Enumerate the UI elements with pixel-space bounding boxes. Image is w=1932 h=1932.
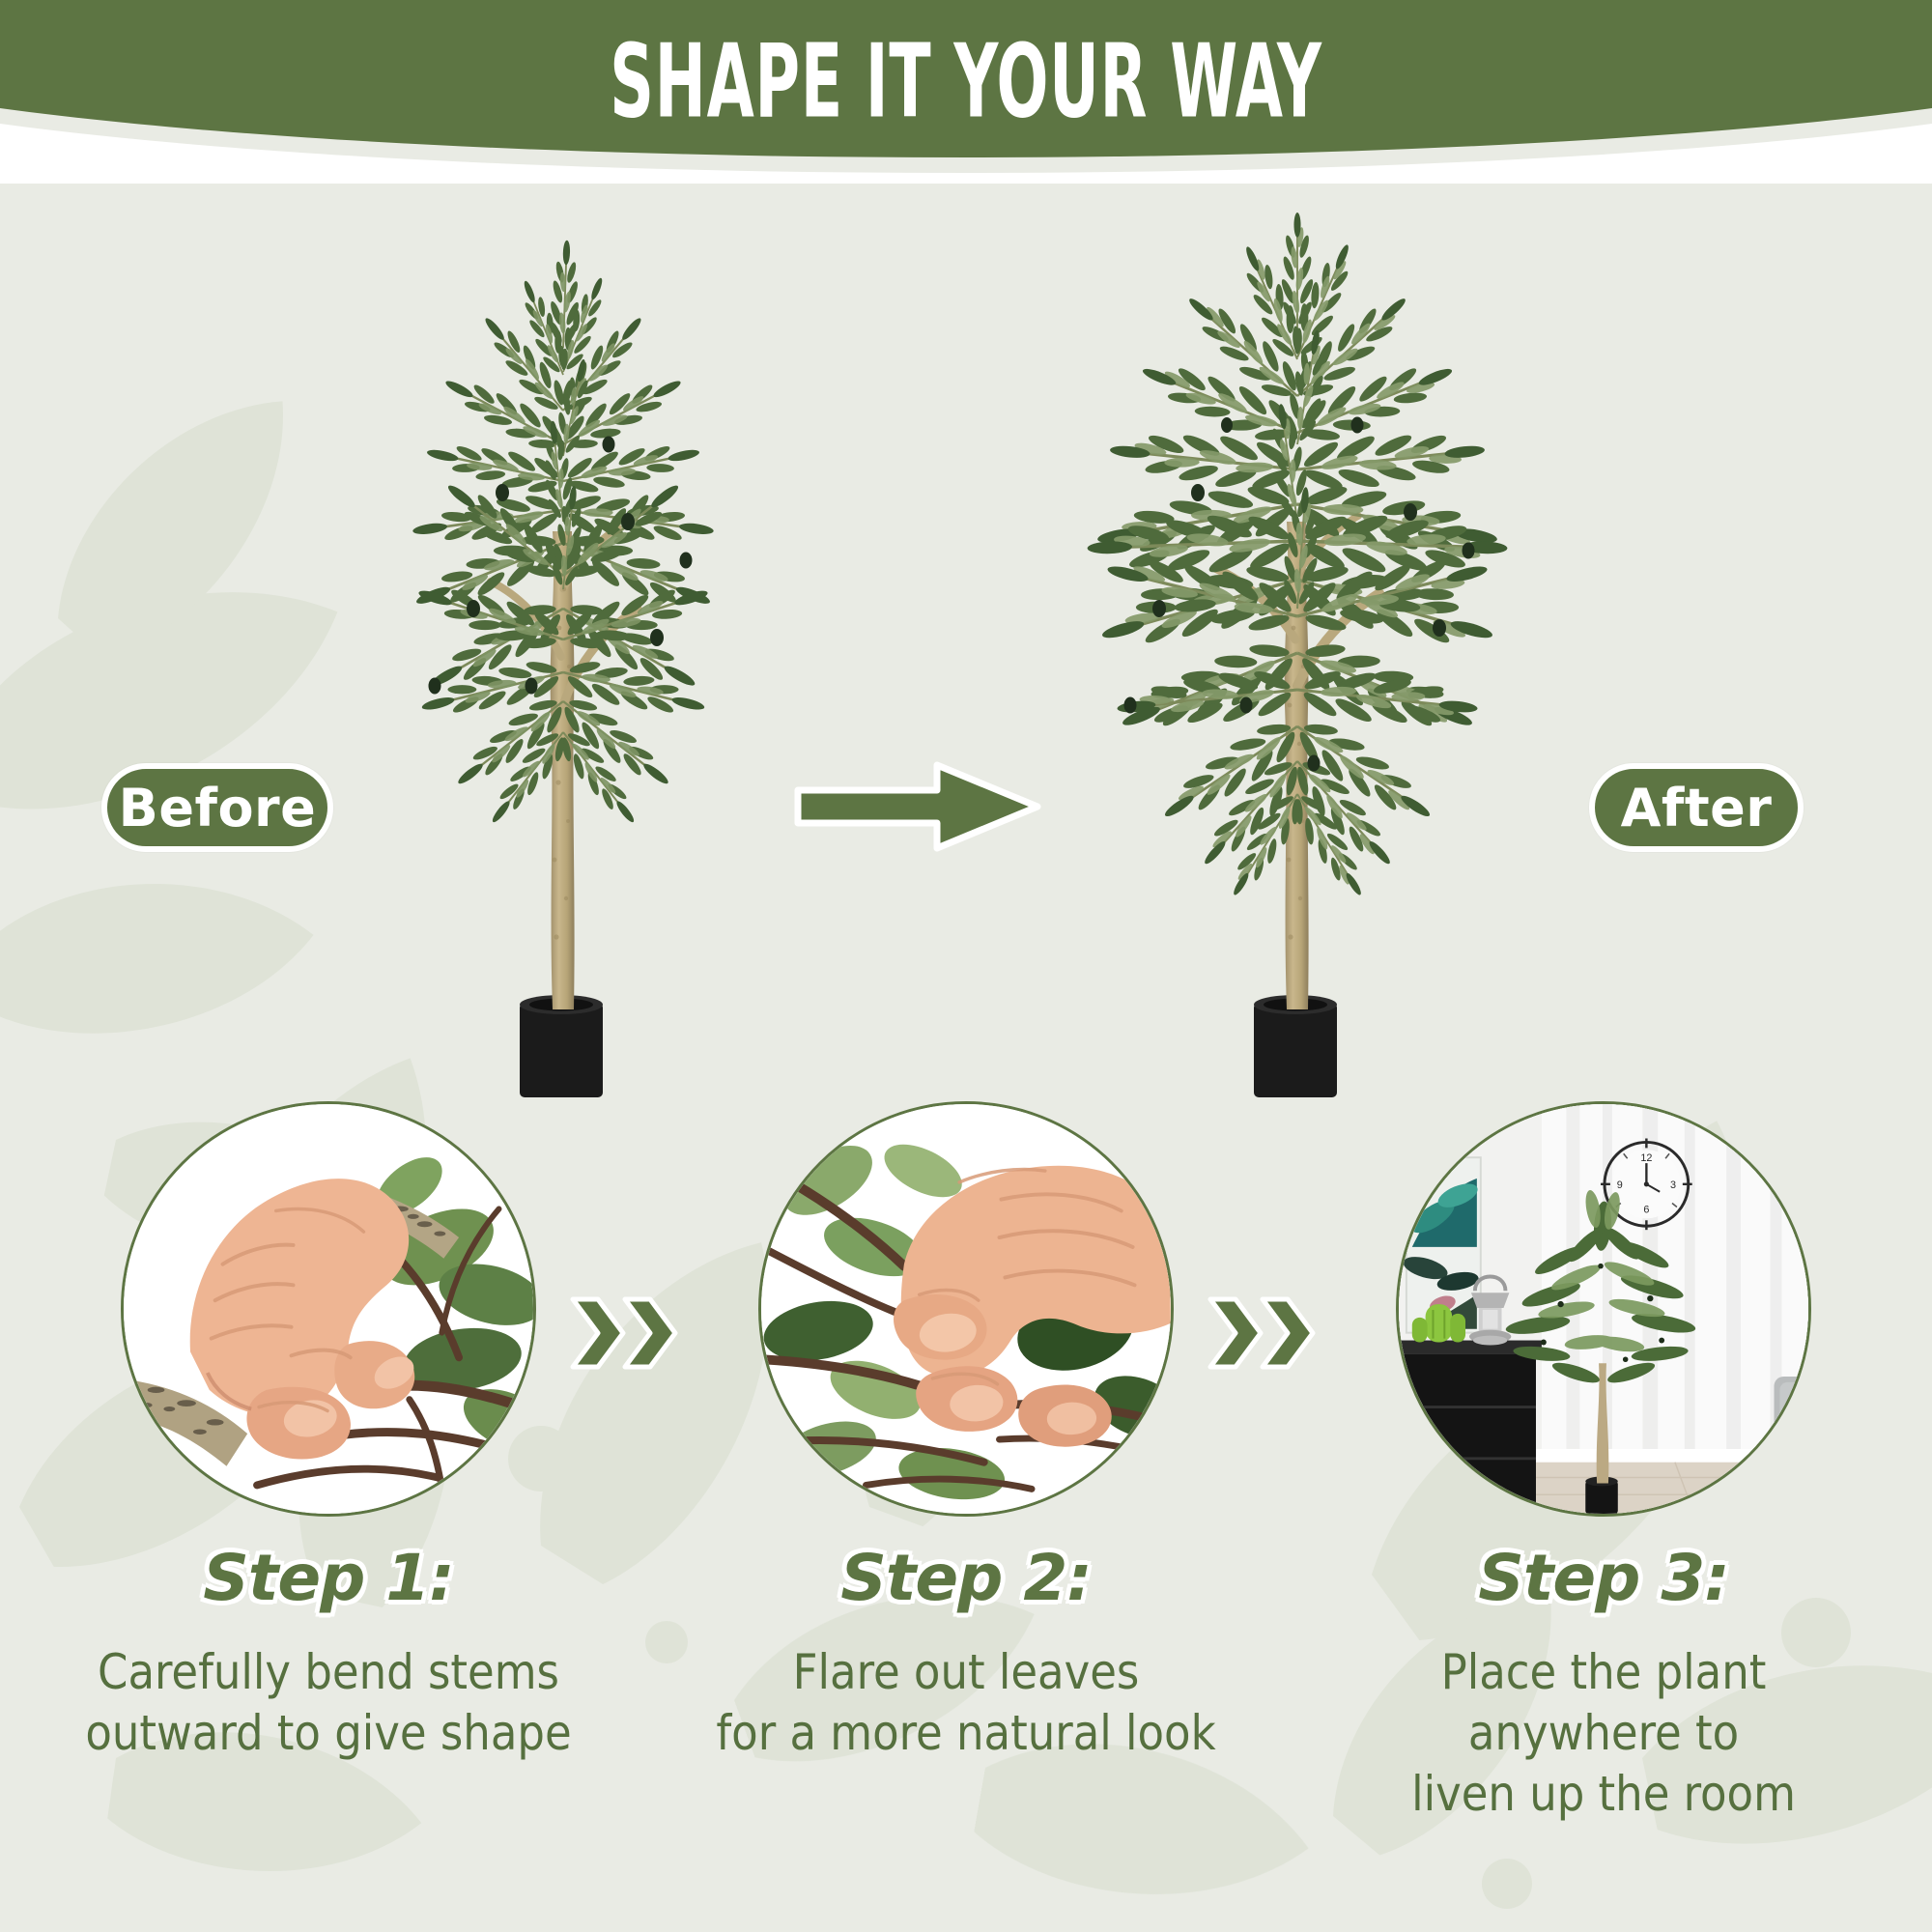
before-tree-image xyxy=(290,203,831,1111)
clock-number-3: 3 xyxy=(1670,1179,1676,1191)
before-badge: Before xyxy=(101,763,333,852)
after-tree-image xyxy=(1024,203,1565,1111)
step-2-image xyxy=(758,1101,1174,1517)
page-title: SHAPE IT YOUR WAY xyxy=(174,23,1758,141)
step-1-image xyxy=(121,1101,536,1517)
step-3-line-2: anywhere to xyxy=(1294,1703,1913,1764)
double-chevron-right-icon xyxy=(1203,1290,1319,1377)
dresser xyxy=(1399,1341,1542,1514)
before-after-stage: Before After xyxy=(0,184,1932,1130)
step-2-body: Flare out leaves for a more natural look xyxy=(657,1642,1275,1764)
step-2-line-1: Flare out leaves xyxy=(657,1642,1275,1703)
step-2-line-2: for a more natural look xyxy=(657,1703,1275,1764)
step-3-line-1: Place the plant xyxy=(1294,1642,1913,1703)
after-badge: After xyxy=(1589,763,1804,852)
step-1-line-2: outward to give shape xyxy=(19,1703,638,1764)
header-banner: SHAPE IT YOUR WAY xyxy=(0,0,1932,184)
clock-number-12: 12 xyxy=(1640,1152,1652,1164)
tree-canopy xyxy=(408,240,719,833)
step-3-heading: Step 3: xyxy=(1294,1541,1913,1615)
tree-pot xyxy=(520,995,603,1097)
step-1-heading: Step 1: xyxy=(19,1541,638,1615)
tree-pot xyxy=(1254,995,1337,1097)
steps-section: Step 1: Carefully bend stems outward to … xyxy=(0,1101,1932,1932)
clock-number-6: 6 xyxy=(1643,1204,1649,1215)
step-3-line-3: liven up the room xyxy=(1294,1764,1913,1825)
chair xyxy=(1775,1377,1808,1481)
clock-number-9: 9 xyxy=(1617,1179,1623,1191)
step-1-line-1: Carefully bend stems xyxy=(19,1642,638,1703)
step-1-body: Carefully bend stems outward to give sha… xyxy=(19,1642,638,1764)
tree-trunk xyxy=(491,527,638,1009)
step-2-heading: Step 2: xyxy=(657,1541,1275,1615)
right-arrow-icon xyxy=(792,753,1043,860)
step-3-body: Place the plant anywhere to liven up the… xyxy=(1294,1642,1913,1825)
double-chevron-right-icon xyxy=(565,1290,681,1377)
step-3-image: 12 3 6 9 xyxy=(1396,1101,1811,1517)
